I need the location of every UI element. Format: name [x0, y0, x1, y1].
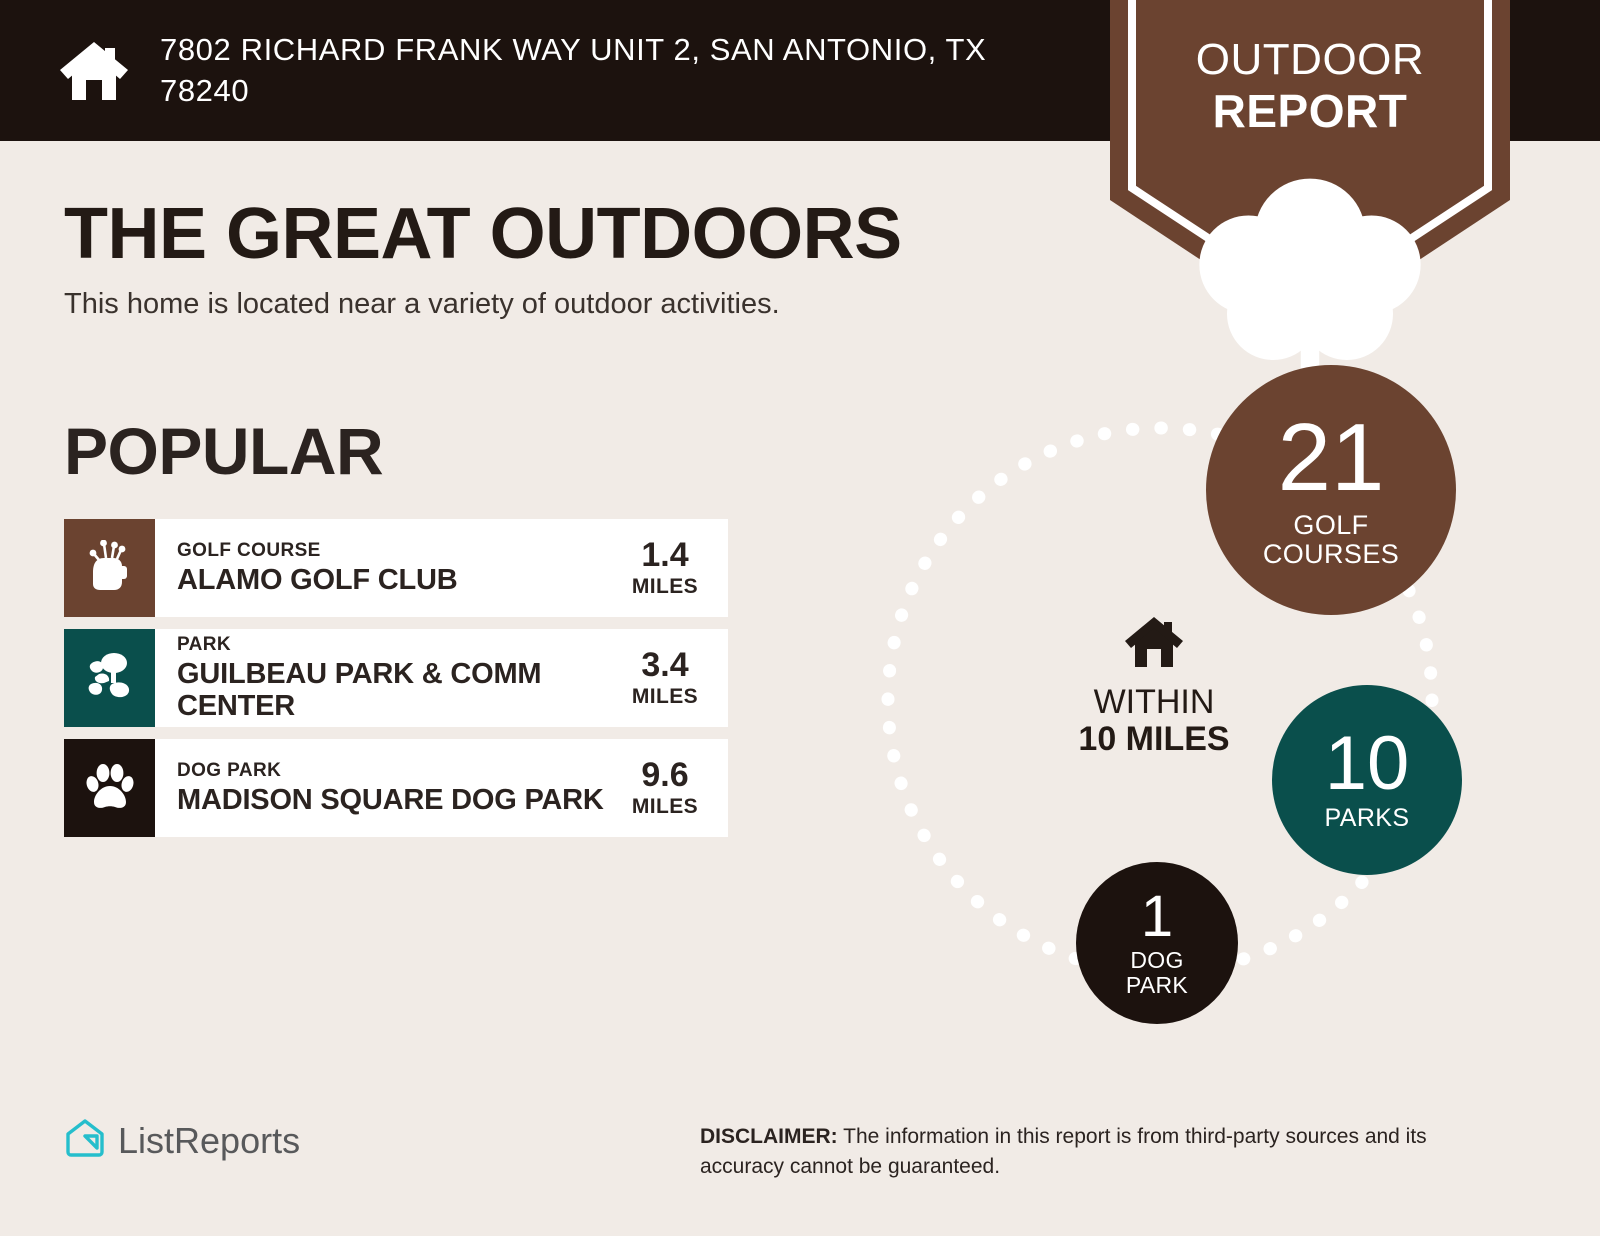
- stat-label: GOLF COURSES: [1263, 511, 1399, 568]
- popular-list: GOLF COURSE ALAMO GOLF CLUB 1.4 MILES: [64, 519, 728, 849]
- property-address: 7802 RICHARD FRANK WAY UNIT 2, SAN ANTON…: [160, 30, 1040, 112]
- category-tile: [64, 629, 155, 727]
- badge-line2: REPORT: [1110, 88, 1510, 134]
- list-item-category: DOG PARK: [177, 759, 624, 783]
- disclaimer-label: DISCLAIMER:: [700, 1125, 838, 1148]
- stat-count: 1: [1141, 889, 1173, 944]
- distance-unit: MILES: [624, 575, 706, 599]
- stat-label: PARKS: [1325, 805, 1410, 832]
- distance-unit: MILES: [624, 685, 706, 709]
- list-item-name: ALAMO GOLF CLUB: [177, 564, 624, 596]
- list-item-distance: 1.4 MILES: [624, 538, 720, 599]
- page-subtitle: This home is located near a variety of o…: [64, 288, 780, 321]
- category-tile: [64, 739, 155, 837]
- list-item-body: PARK GUILBEAU PARK & COMM CENTER 3.4 MIL…: [155, 629, 728, 727]
- stat-label-line1: DOG: [1126, 948, 1188, 972]
- badge-line1: OUTDOOR: [1110, 38, 1510, 82]
- stat-bubble-dog-park: 1 DOG PARK: [1076, 862, 1238, 1024]
- disclaimer: DISCLAIMER: The information in this repo…: [700, 1122, 1512, 1182]
- distance-value: 9.6: [624, 758, 706, 792]
- list-item-name: GUILBEAU PARK & COMM CENTER: [177, 658, 624, 723]
- diagram-center: WITHIN 10 MILES: [1048, 615, 1260, 758]
- category-tile: [64, 519, 155, 617]
- radius-label: 10 MILES: [1048, 721, 1260, 758]
- page-title: THE GREAT OUTDOORS: [64, 193, 902, 275]
- house-icon: [58, 40, 130, 102]
- list-item-category: PARK: [177, 633, 624, 657]
- stat-label-line2: PARK: [1126, 973, 1188, 997]
- list-item[interactable]: GOLF COURSE ALAMO GOLF CLUB 1.4 MILES: [64, 519, 728, 617]
- outdoor-report-page: 7802 RICHARD FRANK WAY UNIT 2, SAN ANTON…: [0, 0, 1600, 1236]
- stat-label-line2: COURSES: [1263, 540, 1399, 569]
- stat-label-line1: GOLF: [1263, 511, 1399, 540]
- golf-bag-icon: [86, 540, 134, 597]
- distance-value: 1.4: [624, 538, 706, 572]
- stat-count: 10: [1325, 728, 1410, 800]
- distance-value: 3.4: [624, 648, 706, 682]
- distance-unit: MILES: [624, 795, 706, 819]
- outdoor-report-badge: OUTDOOR REPORT: [1110, 0, 1510, 332]
- listreports-logo: ListReports: [64, 1117, 300, 1164]
- stat-label: DOG PARK: [1126, 948, 1188, 997]
- list-item-body: GOLF COURSE ALAMO GOLF CLUB 1.4 MILES: [155, 519, 728, 617]
- list-item-name: MADISON SQUARE DOG PARK: [177, 784, 624, 816]
- list-item-distance: 9.6 MILES: [624, 758, 720, 819]
- list-item-body: DOG PARK MADISON SQUARE DOG PARK 9.6 MIL…: [155, 739, 728, 837]
- stat-bubble-golf-courses: 21 GOLF COURSES: [1206, 365, 1456, 615]
- listreports-wordmark: ListReports: [118, 1120, 300, 1162]
- house-icon: [1123, 656, 1185, 673]
- list-item[interactable]: DOG PARK MADISON SQUARE DOG PARK 9.6 MIL…: [64, 739, 728, 837]
- park-tree-icon: [86, 650, 134, 707]
- listreports-house-icon: [64, 1117, 106, 1164]
- stat-count: 21: [1278, 412, 1385, 503]
- paw-icon: [86, 760, 134, 817]
- list-item-distance: 3.4 MILES: [624, 648, 720, 709]
- stat-bubble-parks: 10 PARKS: [1272, 685, 1462, 875]
- list-item-category: GOLF COURSE: [177, 539, 624, 563]
- list-item[interactable]: PARK GUILBEAU PARK & COMM CENTER 3.4 MIL…: [64, 629, 728, 727]
- within-label: WITHIN: [1048, 685, 1260, 721]
- proximity-diagram: 21 GOLF COURSES 10 PARKS 1 DOG PARK: [820, 350, 1560, 1070]
- section-heading-popular: POPULAR: [64, 413, 383, 489]
